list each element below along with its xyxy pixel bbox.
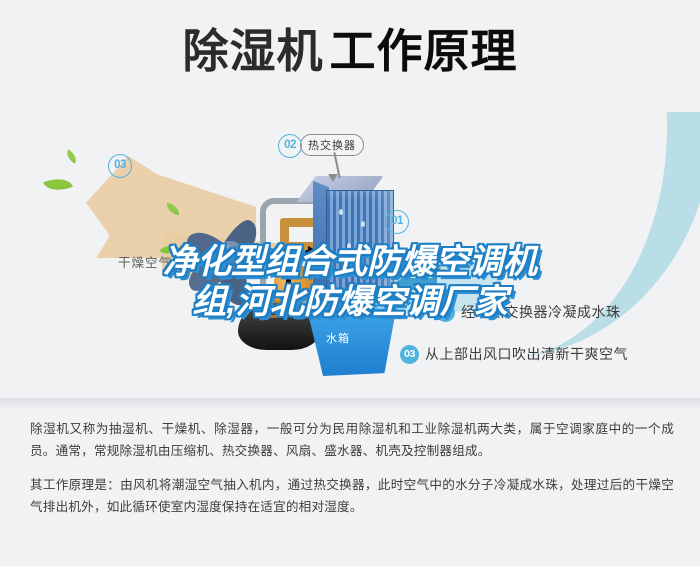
dry-air-label: 干燥空气	[118, 252, 172, 271]
water-droplet-icon	[373, 255, 377, 261]
body-paragraph-1: 除湿机又称为抽湿机、干燥机、除湿器，一般可分为民用除湿机和工业除湿机两大类，属于…	[30, 418, 674, 462]
leaf-icon	[43, 173, 73, 197]
page-title-part1: 除湿机	[183, 22, 324, 80]
flow-arrow-up-stem-icon	[286, 278, 291, 292]
legend-text-03: 从上部出风口吹出清新干爽空气	[425, 344, 628, 364]
page-title-part2: 工作原理	[330, 22, 518, 80]
water-droplet-icon	[365, 283, 369, 289]
badge-dry-air: 03	[108, 154, 132, 178]
water-droplet-icon	[339, 209, 343, 215]
water-droplet-icon	[361, 221, 365, 227]
legend-badge-02: 02	[436, 303, 455, 322]
badge-heat-exchanger: 02	[278, 134, 302, 158]
heat-exchanger-callout: 热交换器	[300, 134, 364, 156]
section-divider	[0, 398, 700, 410]
legend-text-02: 经过热交换器冷凝成水珠	[461, 302, 621, 322]
body-paragraph-2: 其工作原理是：由风机将潮湿空气抽入机内，通过热交换器，此时空气中的水分子冷凝成水…	[30, 474, 674, 518]
humid-air-swoosh-icon	[365, 112, 700, 365]
legend-badge-03: 03	[400, 345, 419, 364]
water-droplet-icon	[347, 243, 351, 249]
water-tank-label: 水箱	[326, 330, 350, 346]
legend-item-condensation: 02 经过热交换器冷凝成水珠	[436, 302, 621, 322]
leaf-icon	[64, 149, 80, 163]
heat-exchanger-fins-icon	[326, 190, 394, 302]
compressor-ring-icon	[254, 300, 290, 318]
flow-arrow-up-icon	[282, 268, 294, 279]
badge-humid-air: 01	[385, 210, 409, 234]
fan-hub	[216, 241, 244, 269]
article-body: 除湿机又称为抽湿机、干燥机、除湿器，一般可分为民用除湿机和工业除湿机两大类，属于…	[30, 418, 674, 530]
humid-air-arrow-stem-icon	[409, 278, 437, 290]
legend-item-outlet: 03 从上部出风口吹出清新干爽空气	[400, 344, 628, 364]
page-root: 除湿机工作原理	[0, 0, 700, 566]
callout-pointer-icon	[328, 174, 338, 182]
dehumidifier-diagram: 水箱 热交换器 03 02 01 干燥空气 潮湿空气 02 经过热交换器冷凝成水…	[0, 112, 700, 404]
page-title: 除湿机工作原理	[0, 22, 700, 80]
humid-air-label: 潮湿空气	[388, 254, 442, 273]
water-droplet-icon	[335, 271, 339, 277]
